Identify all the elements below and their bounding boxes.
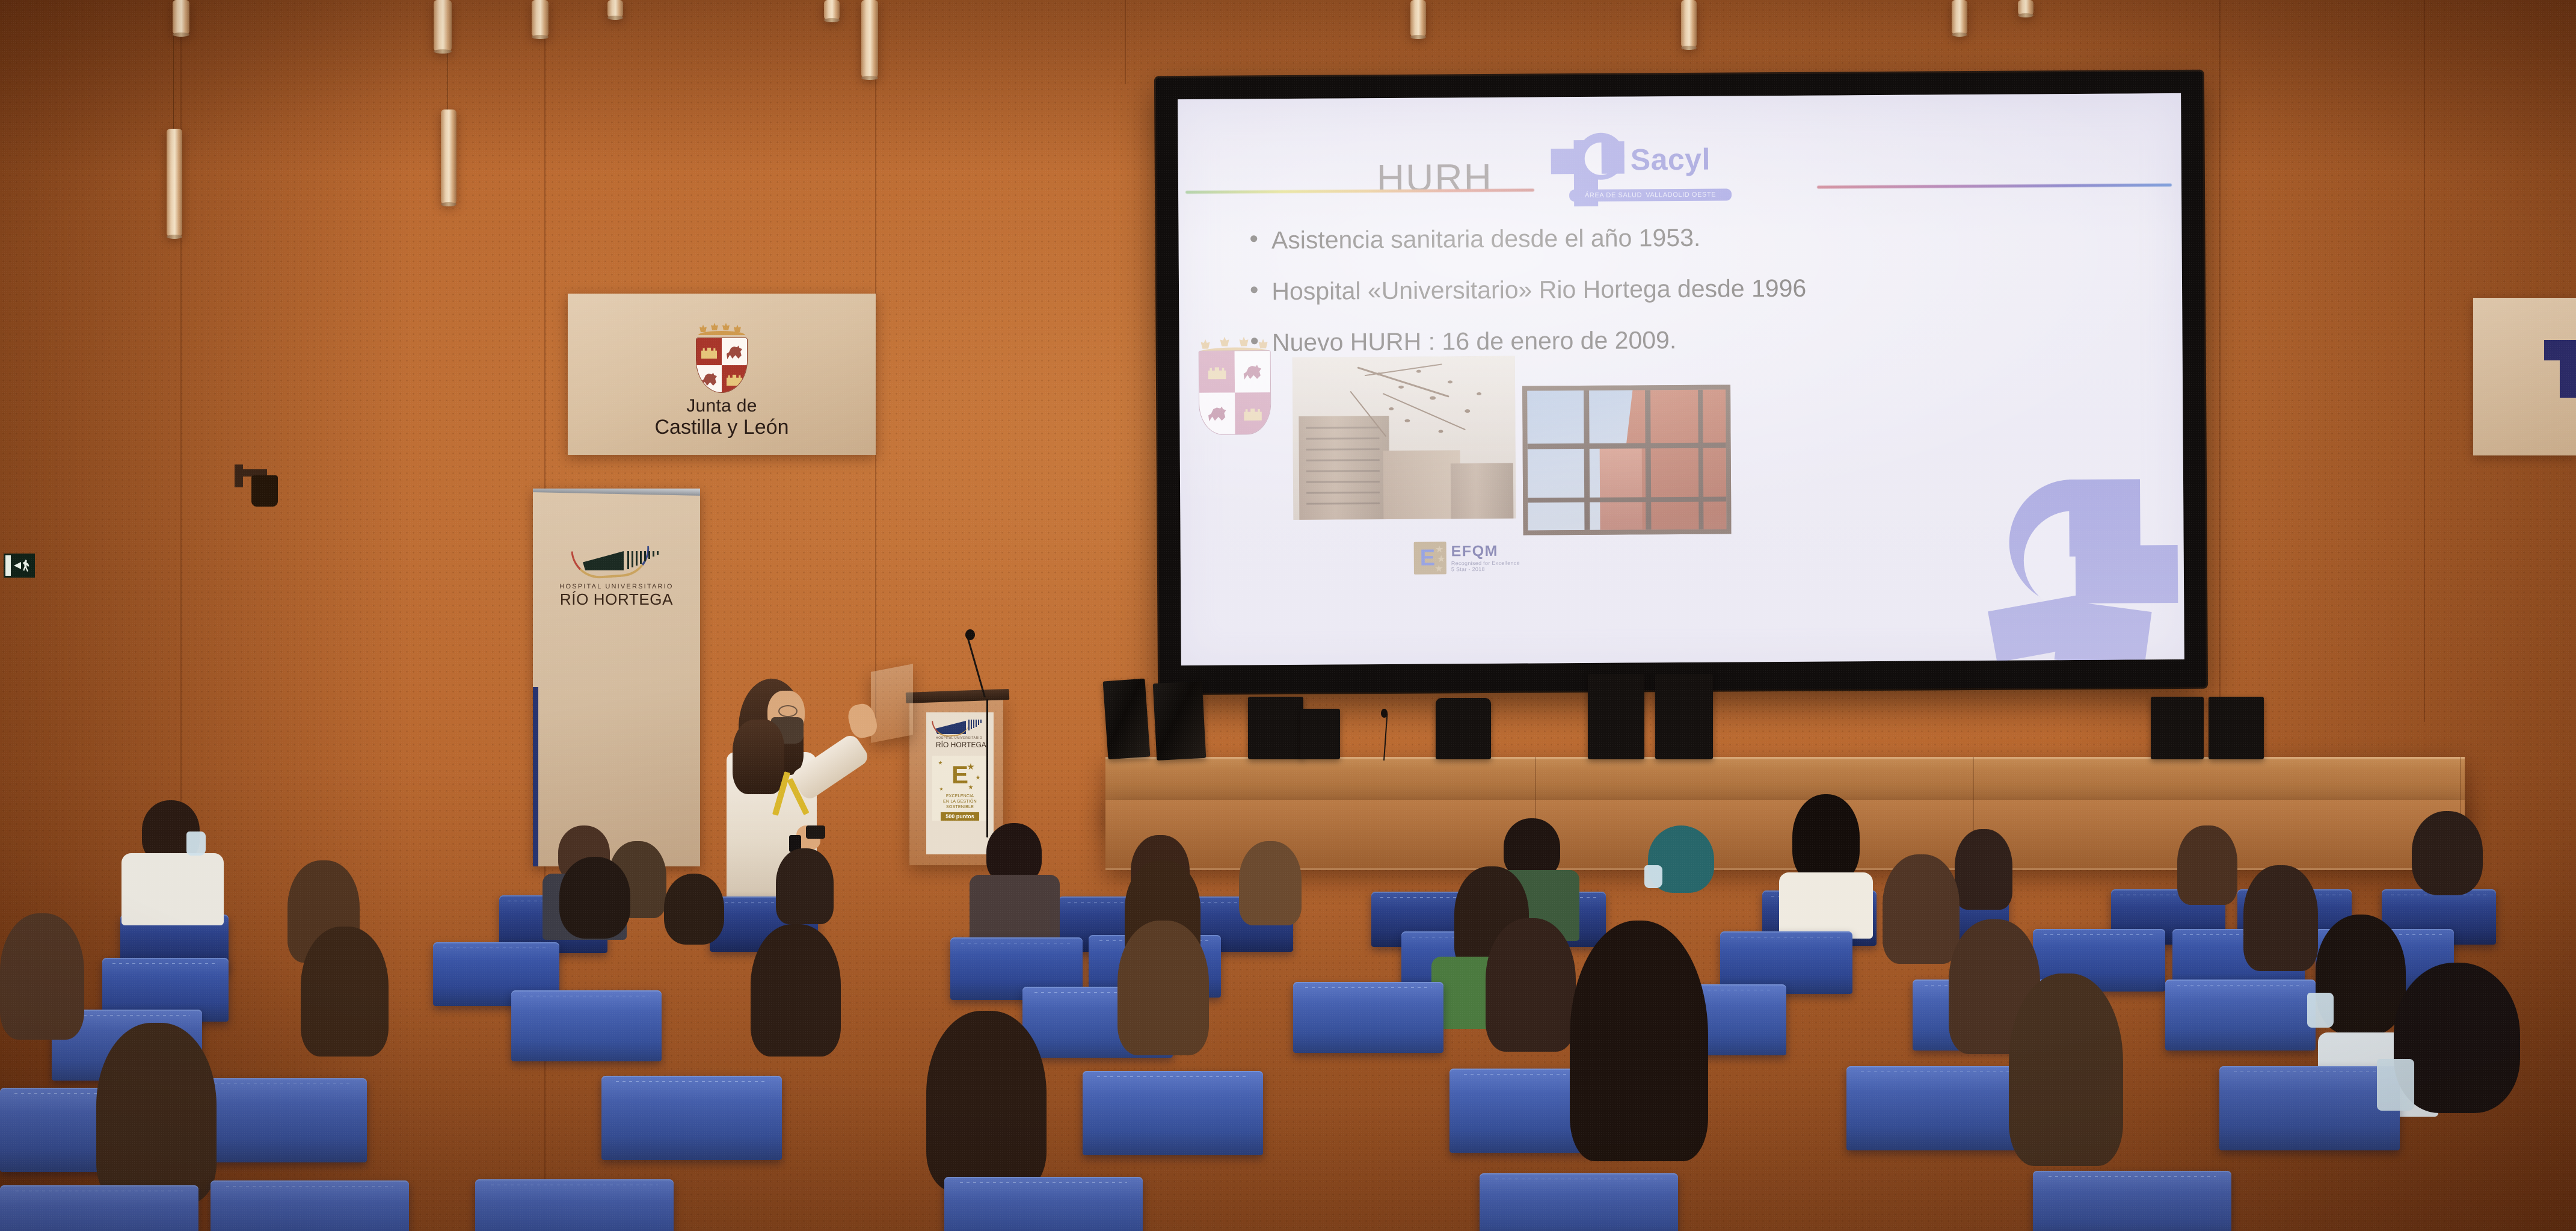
attendee-hair: [776, 848, 834, 924]
old-hospital-wing: [1383, 450, 1461, 520]
cylindrical-pendant-light: [861, 0, 878, 78]
seal-line-2: EN LA GESTIÓN: [943, 800, 977, 805]
junta-line-1: Junta de: [654, 396, 788, 416]
speaker-glasses: [778, 705, 798, 717]
crown-icon: [696, 321, 748, 336]
spotlight-mount: [235, 464, 243, 487]
efqm-letter: E: [1420, 547, 1436, 570]
stage-monitor: [1248, 697, 1303, 759]
cylindrical-pendant-light: [441, 110, 456, 205]
junta-de-castilla-y-leon-sign: Junta de Castilla y León: [568, 294, 876, 455]
attendee-hair: [751, 924, 841, 1057]
right-wall-sacyl-sign: [2473, 298, 2576, 455]
attendee-hair: [926, 1011, 1047, 1191]
attendee-hair: [986, 823, 1042, 883]
stage-monitor: [1103, 679, 1151, 760]
sacyl-cross-arm: [2055, 600, 2152, 665]
window-mullion: [1698, 390, 1703, 529]
list-item: • Nuevo HURH : 16 de enero de 2009.: [1250, 323, 2146, 357]
attendee-hair: [1955, 829, 2012, 910]
seal-line-1: EXCELENCIA: [943, 794, 977, 800]
auditorium-seat[interactable]: [1480, 1173, 1678, 1231]
sacyl-cross-icon: [2560, 340, 2576, 398]
seal-points-badge: 500 puntos: [941, 812, 979, 821]
bullet-text: Nuevo HURH : 16 de enero de 2009.: [1272, 326, 1677, 357]
lectern-microphone-head: [965, 629, 975, 640]
efqm-name: EFQM: [1451, 543, 1520, 560]
bullet-marker: •: [1250, 277, 1259, 302]
rio-hortega-swoosh-logo: [572, 546, 661, 580]
face-mask: [186, 831, 206, 856]
bullet-marker: •: [1249, 226, 1258, 251]
cylindrical-pendant-light: [824, 0, 840, 20]
stage-monitor: [1300, 709, 1340, 759]
cylindrical-pendant-light: [2018, 0, 2033, 16]
efqm-emblem: E: [1414, 541, 1446, 574]
shield-icon: [696, 338, 748, 393]
speaker-hair-back: [733, 720, 784, 794]
stage-monitor: [1153, 681, 1207, 761]
junta-sign-text: Junta de Castilla y León: [654, 396, 788, 438]
efqm-sub-1: Recognised for Excellence: [1451, 560, 1520, 567]
seal-letter: E: [951, 764, 968, 786]
cylindrical-pendant-light: [607, 0, 623, 18]
sacyl-subtitle-a: ÁREA DE SALUD: [1585, 191, 1642, 199]
window-mullion: [1645, 390, 1651, 529]
face-mask: [2377, 1059, 2414, 1111]
presentation-slide[interactable]: HURH Sacyl ÁREA DE SALUD VALLADOLID OEST…: [1178, 93, 2184, 665]
attendee-shoulders: [1779, 872, 1873, 939]
presentation-clicker[interactable]: [806, 825, 825, 839]
wall-seam: [2219, 0, 2221, 722]
attendee-hair: [1486, 918, 1576, 1052]
auditorium-seat[interactable]: [511, 990, 662, 1061]
lectern-logo-name: RÍO HORTEGA: [936, 741, 986, 749]
face-mask: [2307, 993, 2334, 1028]
stage-monitor: [1436, 698, 1491, 759]
efqm-logo: E EFQM Recognised for Excellence 5 Star …: [1414, 541, 1520, 575]
attendee-hair: [664, 874, 724, 945]
attendee-shoulders: [121, 853, 224, 925]
running-man-icon: [23, 560, 29, 572]
banner-caption: HOSPITAL UNIVERSITARIO: [533, 583, 700, 590]
attendee-hair: [1792, 794, 1860, 883]
efqm-sub-2: 5 Star - 2018: [1451, 566, 1520, 573]
list-item: • Hospital «Universitario» Rio Hortega d…: [1250, 272, 2146, 306]
cylindrical-pendant-light: [167, 129, 182, 237]
rio-hortega-lectern-logo: HOSPITAL UNIVERSITARIO RÍO HORTEGA: [931, 717, 989, 750]
spotlight-head: [251, 475, 278, 507]
window-mullion: [1584, 390, 1590, 530]
wall-seam: [2424, 0, 2425, 722]
cylindrical-pendant-light: [1952, 0, 1967, 35]
attendee-shoulders: [970, 875, 1060, 943]
stage-monitor: [2151, 697, 2204, 759]
attendee-hair: [301, 927, 389, 1057]
red-facade-strip: [1600, 448, 1643, 535]
castilla-y-leon-crest: [693, 321, 751, 393]
banner-hospital-name: RÍO HORTEGA: [533, 590, 700, 609]
attendee-hair: [0, 913, 84, 1040]
sacyl-logo-watermark: [1979, 455, 2178, 655]
auditorium-seat[interactable]: [2033, 1171, 2231, 1231]
attendee-hair: [1504, 818, 1560, 878]
new-hospital-window-photo: [1522, 384, 1732, 535]
lectern-cable: [986, 699, 988, 838]
excellence-seal: E EXCELENCIA EN LA GESTIÓN SOSTENIBLE 50…: [932, 756, 988, 821]
stage-monitor: [2209, 697, 2264, 759]
emergency-exit-sign: [4, 554, 35, 578]
panel-table-front: [1105, 800, 2465, 870]
old-hospital-photo: [1293, 356, 1516, 520]
sacyl-logo: Sacyl ÁREA DE SALUD VALLADOLID OESTE: [1551, 123, 1804, 203]
lectern-logo-caption: HOSPITAL UNIVERSITARIO: [936, 736, 982, 740]
wall-seam: [1125, 0, 1126, 84]
attendee-hair: [1117, 921, 1209, 1055]
cylindrical-pendant-light: [532, 0, 549, 37]
attendee-hair: [2412, 811, 2483, 895]
rio-hortega-rollup-banner: HOSPITAL UNIVERSITARIO RÍO HORTEGA: [533, 489, 700, 866]
sacyl-wordmark: Sacyl: [1631, 142, 1711, 177]
banner-navy-stripe: [533, 687, 538, 866]
attendee-hair: [1570, 921, 1708, 1161]
cylindrical-pendant-light: [1681, 0, 1697, 48]
castilla-y-leon-crest-watermark: [1184, 333, 1286, 454]
auditorium-seat[interactable]: [1293, 982, 1443, 1053]
auditorium-seat[interactable]: [1846, 1066, 2027, 1150]
attendee-hair: [2243, 865, 2318, 971]
attendee-hair: [1239, 841, 1302, 925]
sacyl-cross-arm: [1602, 141, 1625, 174]
auditorium-seat[interactable]: [944, 1177, 1143, 1231]
bullet-text: Asistencia sanitaria desde el año 1953.: [1271, 224, 1701, 255]
bullet-text: Hospital «Universitario» Rio Hortega des…: [1271, 274, 1806, 306]
table-microphone-head: [1381, 709, 1388, 718]
speaker-raised-hand: [846, 702, 879, 741]
list-item: • Asistencia sanitaria desde el año 1953…: [1249, 221, 2145, 255]
auditorium-seat[interactable]: [1083, 1071, 1263, 1155]
auditorium-seat[interactable]: [601, 1076, 782, 1160]
lectern-front-panel: HOSPITAL UNIVERSITARIO RÍO HORTEGA E EXC…: [926, 712, 994, 854]
seal-line-3: SOSTENIBLE: [943, 805, 977, 810]
auditorium-seat[interactable]: [211, 1180, 409, 1231]
attendee-hair: [559, 857, 630, 939]
slide-bullet-list: • Asistencia sanitaria desde el año 1953…: [1249, 221, 2146, 357]
cylindrical-pendant-light: [1410, 0, 1426, 37]
attendee-hair: [1883, 854, 1960, 964]
auditorium-seat[interactable]: [2165, 980, 2316, 1051]
projection-screen-frame: HURH Sacyl ÁREA DE SALUD VALLADOLID OEST…: [1156, 72, 2206, 694]
auditorium-seat[interactable]: [0, 1185, 198, 1231]
stage-monitor: [1588, 674, 1644, 759]
face-mask: [1644, 865, 1662, 888]
auditorium-seat[interactable]: [2219, 1066, 2400, 1150]
exit-arrow-icon: [13, 562, 21, 569]
attendee-hair: [2009, 973, 2123, 1166]
auditorium-seat[interactable]: [475, 1179, 674, 1231]
old-hospital-wing: [1451, 463, 1514, 520]
slide-title: HURH: [1377, 155, 1493, 200]
junta-line-2: Castilla y León: [654, 416, 788, 439]
attendee-hair: [2177, 825, 2237, 905]
auditorium-scene: Junta de Castilla y León HOSPITAL UNIVER…: [0, 0, 2576, 1231]
sacyl-cross-arm: [2076, 545, 2178, 603]
sacyl-subtitle-b: VALLADOLID OESTE: [1646, 191, 1716, 199]
slide-gradient-rule-right: [1817, 184, 2172, 189]
sacyl-subtitle-band: ÁREA DE SALUD VALLADOLID OESTE: [1569, 188, 1732, 202]
cylindrical-pendant-light: [173, 0, 189, 35]
stage-monitor: [1655, 674, 1713, 759]
shield-icon: [1199, 350, 1271, 435]
exit-door-icon: [5, 555, 11, 576]
attendee-hair: [96, 1023, 217, 1203]
cylindrical-pendant-light: [434, 0, 452, 52]
